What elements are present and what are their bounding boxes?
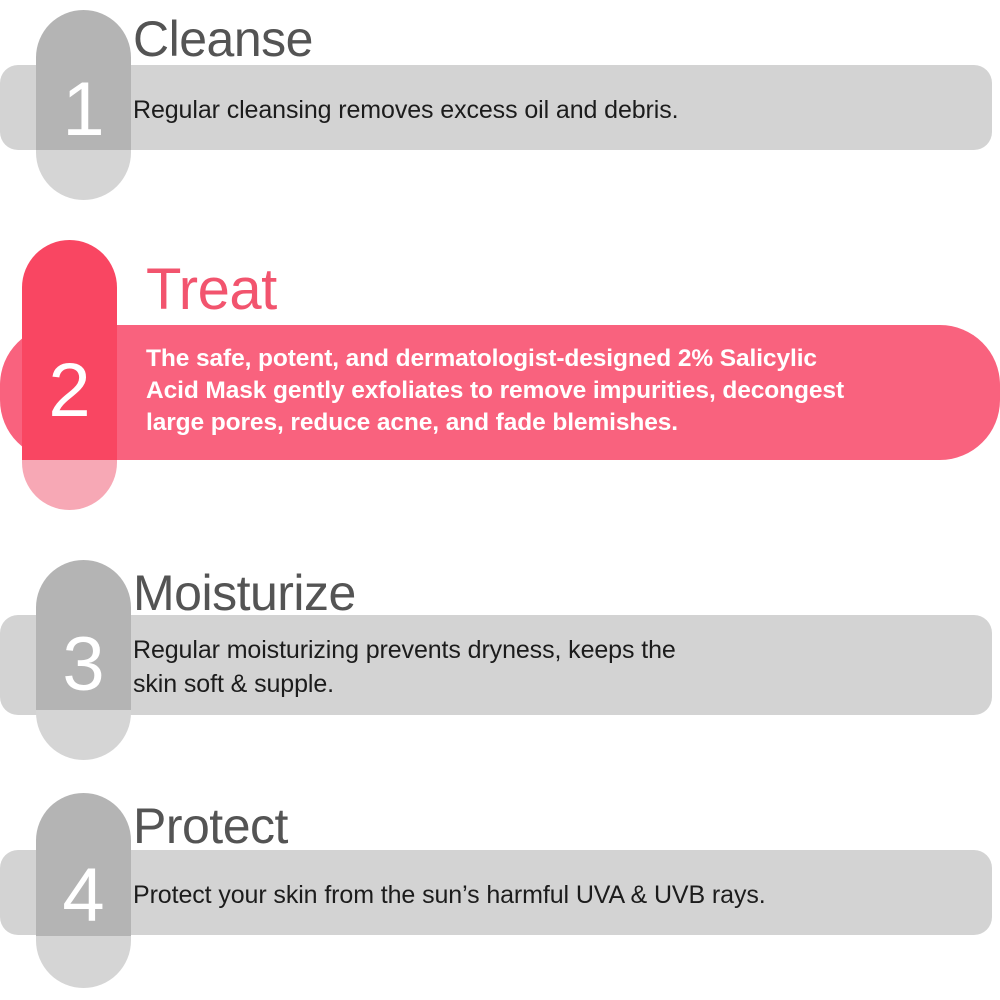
- skincare-routine-infographic: 1 Cleanse Regular cleansing removes exce…: [0, 0, 1000, 1000]
- step-item-1: 1 Cleanse Regular cleansing removes exce…: [0, 0, 1000, 220]
- step-3-number: 3: [36, 627, 131, 703]
- step-3-heading: Moisturize: [133, 568, 356, 618]
- step-1-heading: Cleanse: [133, 14, 313, 64]
- badge-bottom-fill: [36, 936, 131, 988]
- step-3-description: Regular moisturizing prevents dryness, k…: [133, 633, 973, 701]
- step-1-description: Regular cleansing removes excess oil and…: [133, 93, 973, 127]
- step-2-description: The safe, potent, and dermatologist-desi…: [146, 343, 976, 439]
- step-2-heading: Treat: [146, 261, 277, 319]
- step-4-number: 4: [36, 858, 131, 934]
- step-item-2: 2 Treat The safe, potent, and dermatolog…: [0, 240, 1000, 520]
- badge-bottom-fill: [36, 710, 131, 760]
- badge-bottom-fill: [22, 460, 117, 510]
- step-2-number: 2: [22, 353, 117, 429]
- badge-bottom-fill: [36, 150, 131, 200]
- step-item-4: 4 Protect Protect your skin from the sun…: [0, 788, 1000, 1000]
- step-1-number: 1: [36, 72, 131, 148]
- step-4-description: Protect your skin from the sun’s harmful…: [133, 878, 973, 912]
- step-item-3: 3 Moisturize Regular moisturizing preven…: [0, 555, 1000, 780]
- step-4-heading: Protect: [133, 801, 288, 851]
